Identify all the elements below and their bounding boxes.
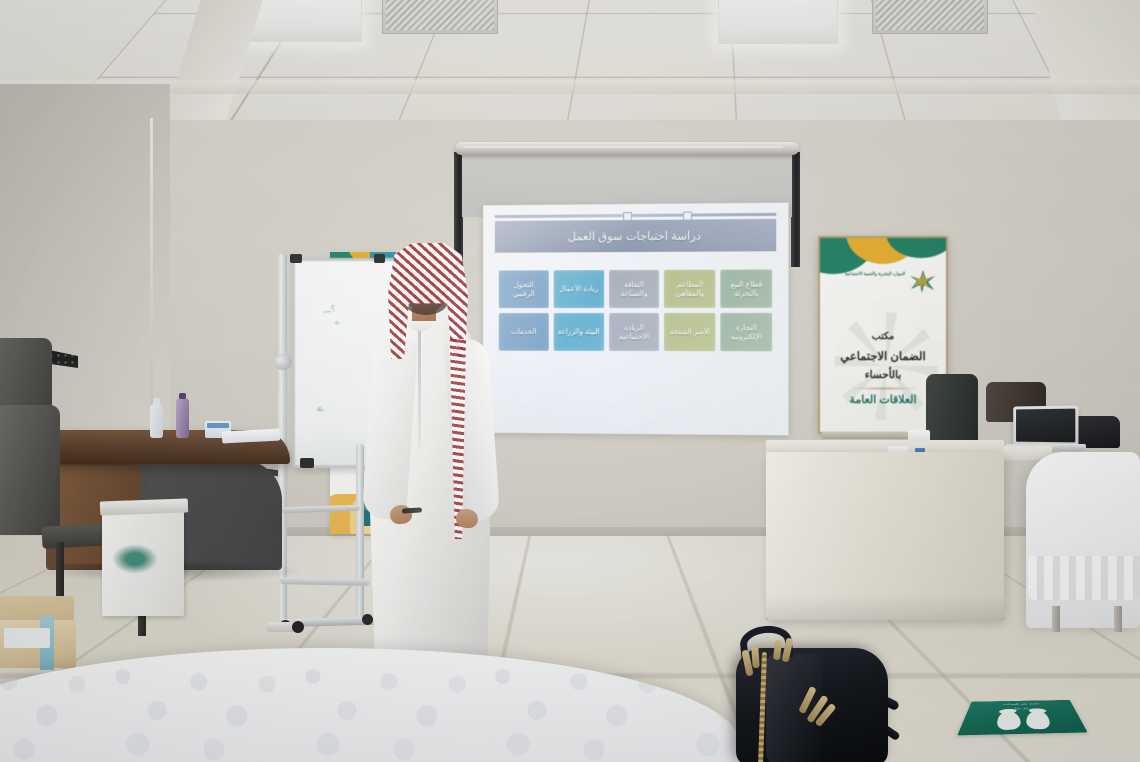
- hand-sanitizer-bottle: [150, 404, 163, 438]
- whiteboard-scribble: ے: [317, 401, 324, 414]
- sticker-text-line-2: قف هنا: [967, 706, 1075, 712]
- thobe-placket: [418, 329, 421, 447]
- whiteboard-clip: [300, 458, 314, 468]
- slide-tile: الريادة الاجتماعية: [609, 313, 660, 351]
- projected-slide: دراسة احتياجات سوق العمل قطاع البيع بالت…: [483, 203, 788, 436]
- white-chair-cover: [1026, 452, 1140, 628]
- footprint-icon: [1026, 711, 1051, 730]
- chair-cover-ruffle: [1028, 556, 1140, 600]
- slide-tile: التجارة الإلكترونية: [721, 313, 773, 351]
- slide-tile: قطاع البيع بالتجزئة: [721, 269, 773, 307]
- banner-line-2: الضمان الاجتماعي: [820, 349, 946, 363]
- ceiling-light-panel: [718, 0, 838, 44]
- screen-rail-right: [791, 152, 800, 267]
- slide-tile-grid: قطاع البيع بالتجزئة المطاعم والمقاهي الث…: [499, 269, 772, 351]
- cardboard-box-white: [102, 508, 184, 616]
- whiteboard-clip: [290, 254, 302, 263]
- slide-tile: الثقافة والصناعة: [609, 270, 660, 308]
- round-table-cloth: [0, 648, 740, 762]
- slide-tile: الأسر المنتجة: [664, 313, 715, 351]
- slide-tile: المطاعم والمقاهي: [664, 270, 715, 308]
- floor-item: [266, 622, 300, 632]
- banner-separator: [850, 387, 920, 390]
- tissue: [908, 430, 930, 442]
- chair-leg: [1052, 606, 1060, 632]
- office-chair: [926, 374, 978, 446]
- banner-line-1: مكتب: [820, 331, 946, 342]
- ministry-logo-text: الموارد البشرية والتنمية الاجتماعية: [844, 271, 906, 277]
- slide-decor-line: [495, 213, 776, 218]
- ceiling-air-vent: [382, 0, 498, 34]
- handbag-tassel: [751, 646, 760, 668]
- box-label: [4, 628, 50, 648]
- black-handbag: [722, 620, 904, 762]
- flipchart-crossbar: [282, 505, 360, 514]
- whiteboard-scribble: ؟ـــ: [323, 305, 336, 316]
- ceiling-air-vent: [872, 0, 988, 34]
- slide-tile: البيئة والزراعة: [554, 313, 604, 351]
- wall-crown-molding: [0, 80, 1140, 94]
- table-cloth-skirt: [766, 452, 1004, 620]
- footprint-icon: [997, 711, 1022, 731]
- screen-roller-housing: [455, 142, 799, 155]
- photograph-scene: دراسة احتياجات سوق العمل قطاع البيع بالت…: [0, 0, 1140, 762]
- flipchart-height-knob[interactable]: [274, 354, 292, 370]
- laptop-screen[interactable]: [1013, 405, 1078, 446]
- presenter: [352, 243, 512, 663]
- social-distancing-floor-sticker: حافظ على المسافة قف هنا: [957, 700, 1087, 735]
- spray-bottle: [176, 398, 189, 438]
- slide-title: دراسة احتياجات سوق العمل: [495, 219, 776, 253]
- chair-backrest: [0, 405, 60, 535]
- whiteboard-scribble: ے: [335, 317, 340, 326]
- slide-tile: ريادة الأعمال: [554, 270, 604, 308]
- chair-leg: [1114, 606, 1122, 632]
- ministry-logo-icon: [909, 268, 937, 294]
